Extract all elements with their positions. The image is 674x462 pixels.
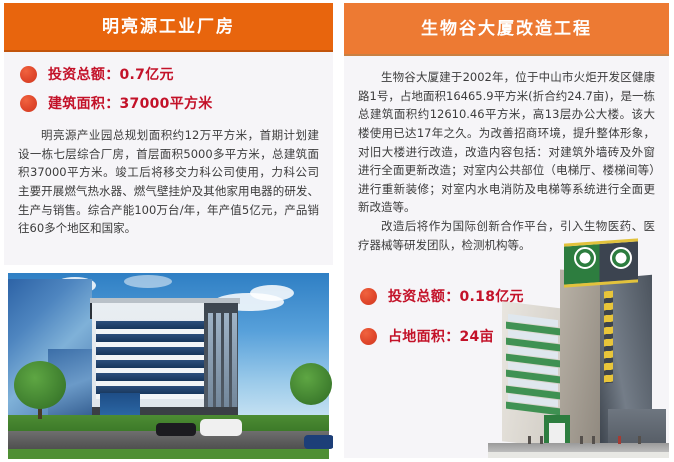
card-header-title-left: 明亮源工业厂房: [4, 3, 333, 52]
parked-car: [200, 419, 242, 436]
foreground-lawn: [8, 449, 329, 459]
red-dot-bullet-icon: [360, 288, 377, 305]
ground-plaza: [488, 443, 669, 452]
key-figure-text: 建筑面积：37000平方米: [48, 93, 213, 113]
cloud-shape: [124, 275, 172, 288]
company-logo-icon: [574, 247, 596, 269]
key-figure-row: 建筑面积：37000平方米: [20, 93, 333, 113]
foreground-strip: [488, 452, 669, 458]
description-paragraph: 生物谷大厦建于2002年，位于中山市火炬开发区健康路1号，占地面积16465.9…: [344, 56, 669, 217]
window-band: [96, 334, 204, 342]
biovalley-tower-rendering-image: [488, 233, 669, 458]
project-card-shengwugu: 生物谷大厦改造工程 生物谷大厦建于2002年，位于中山市火炬开发区健康路1号，占…: [344, 3, 669, 458]
red-dot-bullet-icon: [20, 66, 37, 83]
key-figure-row: 投资总额：0.7亿元: [20, 64, 333, 84]
window-band: [96, 321, 204, 329]
window-band: [96, 373, 204, 381]
key-figure-text: 占地面积：24亩: [388, 326, 494, 346]
facade-fin: [208, 313, 213, 417]
facade-fin: [232, 313, 237, 417]
pedestrian-figure: [540, 436, 543, 444]
facade-fin: [224, 313, 229, 417]
window-band: [96, 360, 204, 368]
project-cards-board: 明亮源工业厂房 投资总额：0.7亿元 建筑面积：37000平方米 明亮源产业园总…: [0, 0, 674, 462]
parked-car: [304, 435, 333, 449]
parked-car: [156, 423, 196, 436]
tower-composition: [488, 233, 669, 458]
key-figures-left: 投资总额：0.7亿元 建筑面积：37000平方米: [4, 52, 333, 124]
key-figure-text: 投资总额：0.7亿元: [48, 64, 174, 84]
tower-podium: [608, 409, 666, 445]
description-paragraph: 明亮源产业园总规划面积约12万平方米，首期计划建设一栋七层综合厂房，首层面积50…: [4, 124, 333, 238]
pedestrian-figure: [638, 436, 641, 444]
window-band: [96, 347, 204, 355]
cloud-shape: [250, 285, 294, 301]
pedestrian-figure: [618, 436, 621, 444]
tree-canopy: [14, 361, 66, 409]
tower-entrance-door: [549, 423, 565, 445]
project-card-mingliangyuan: 明亮源工业厂房 投资总额：0.7亿元 建筑面积：37000平方米 明亮源产业园总…: [4, 3, 333, 459]
facade-fin: [216, 313, 221, 417]
tree-canopy: [290, 363, 332, 405]
red-dot-bullet-icon: [20, 95, 37, 112]
company-logo-icon: [610, 247, 632, 269]
pedestrian-figure: [580, 436, 583, 444]
card-header-title-right: 生物谷大厦改造工程: [344, 3, 669, 56]
pedestrian-figure: [592, 436, 595, 444]
yellow-signage-strip: [604, 291, 613, 384]
red-dot-bullet-icon: [360, 328, 377, 345]
industrial-plant-rendering-image: [4, 265, 333, 459]
pedestrian-figure: [528, 436, 531, 444]
